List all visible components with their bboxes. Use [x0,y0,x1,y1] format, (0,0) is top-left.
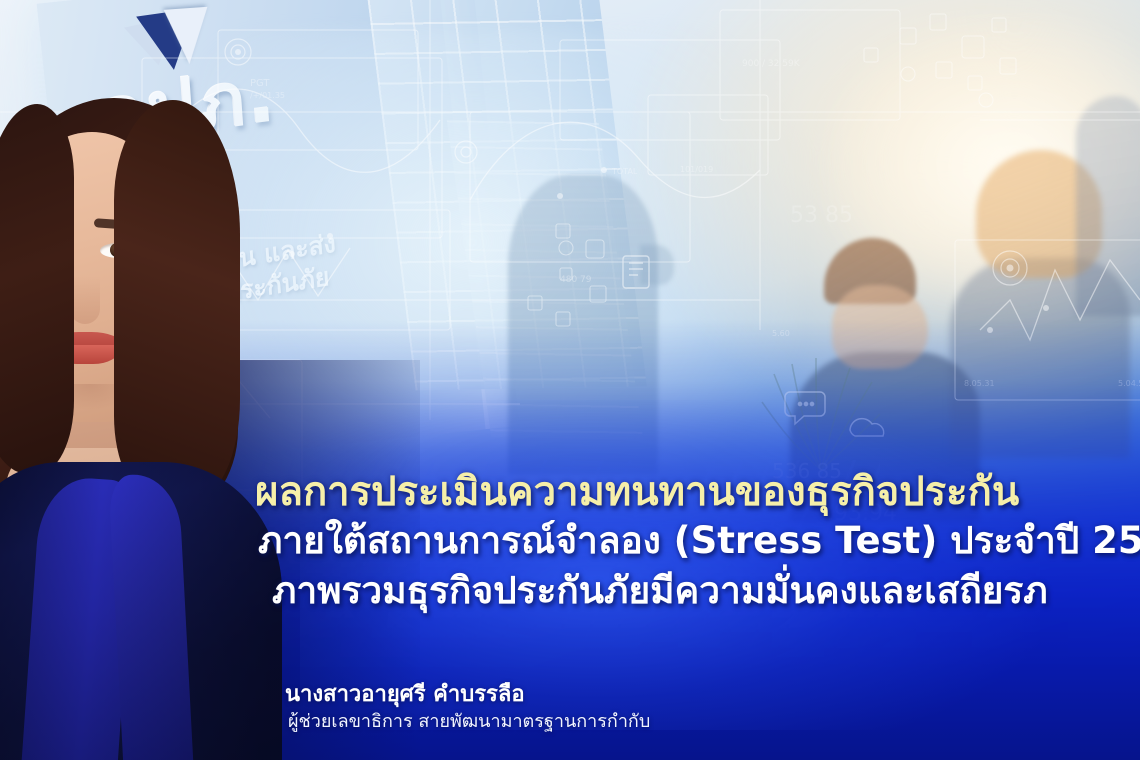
portrait-hair-front-left [0,104,74,474]
portrait-nose [70,276,100,324]
silhouette-person-far-right [1076,96,1140,316]
silhouette-woman-profile-face [640,245,674,285]
speaker-portrait [0,96,256,760]
speaker-role: ผู้ช่วยเลขาธิการ สายพัฒนามาตรฐานการกำกับ [288,706,650,735]
portrait-blazer-shading [0,462,282,760]
presentation-banner: คปภ. สำนักงาน และส่งเสริม ประกันภัย [0,0,1140,760]
headline-line-2: ภายใต้สถานการณ์จำลอง (Stress Test) ประจำ… [258,522,1140,559]
headline-line-3: ภาพรวมธุรกิจประกันภัยมีความมั่นคงและเสถี… [272,572,1048,609]
headline-line-1: ผลการประเมินความทนทานของธุรกิจประกัน [255,472,1019,512]
portrait-hair-front-right [114,100,240,500]
